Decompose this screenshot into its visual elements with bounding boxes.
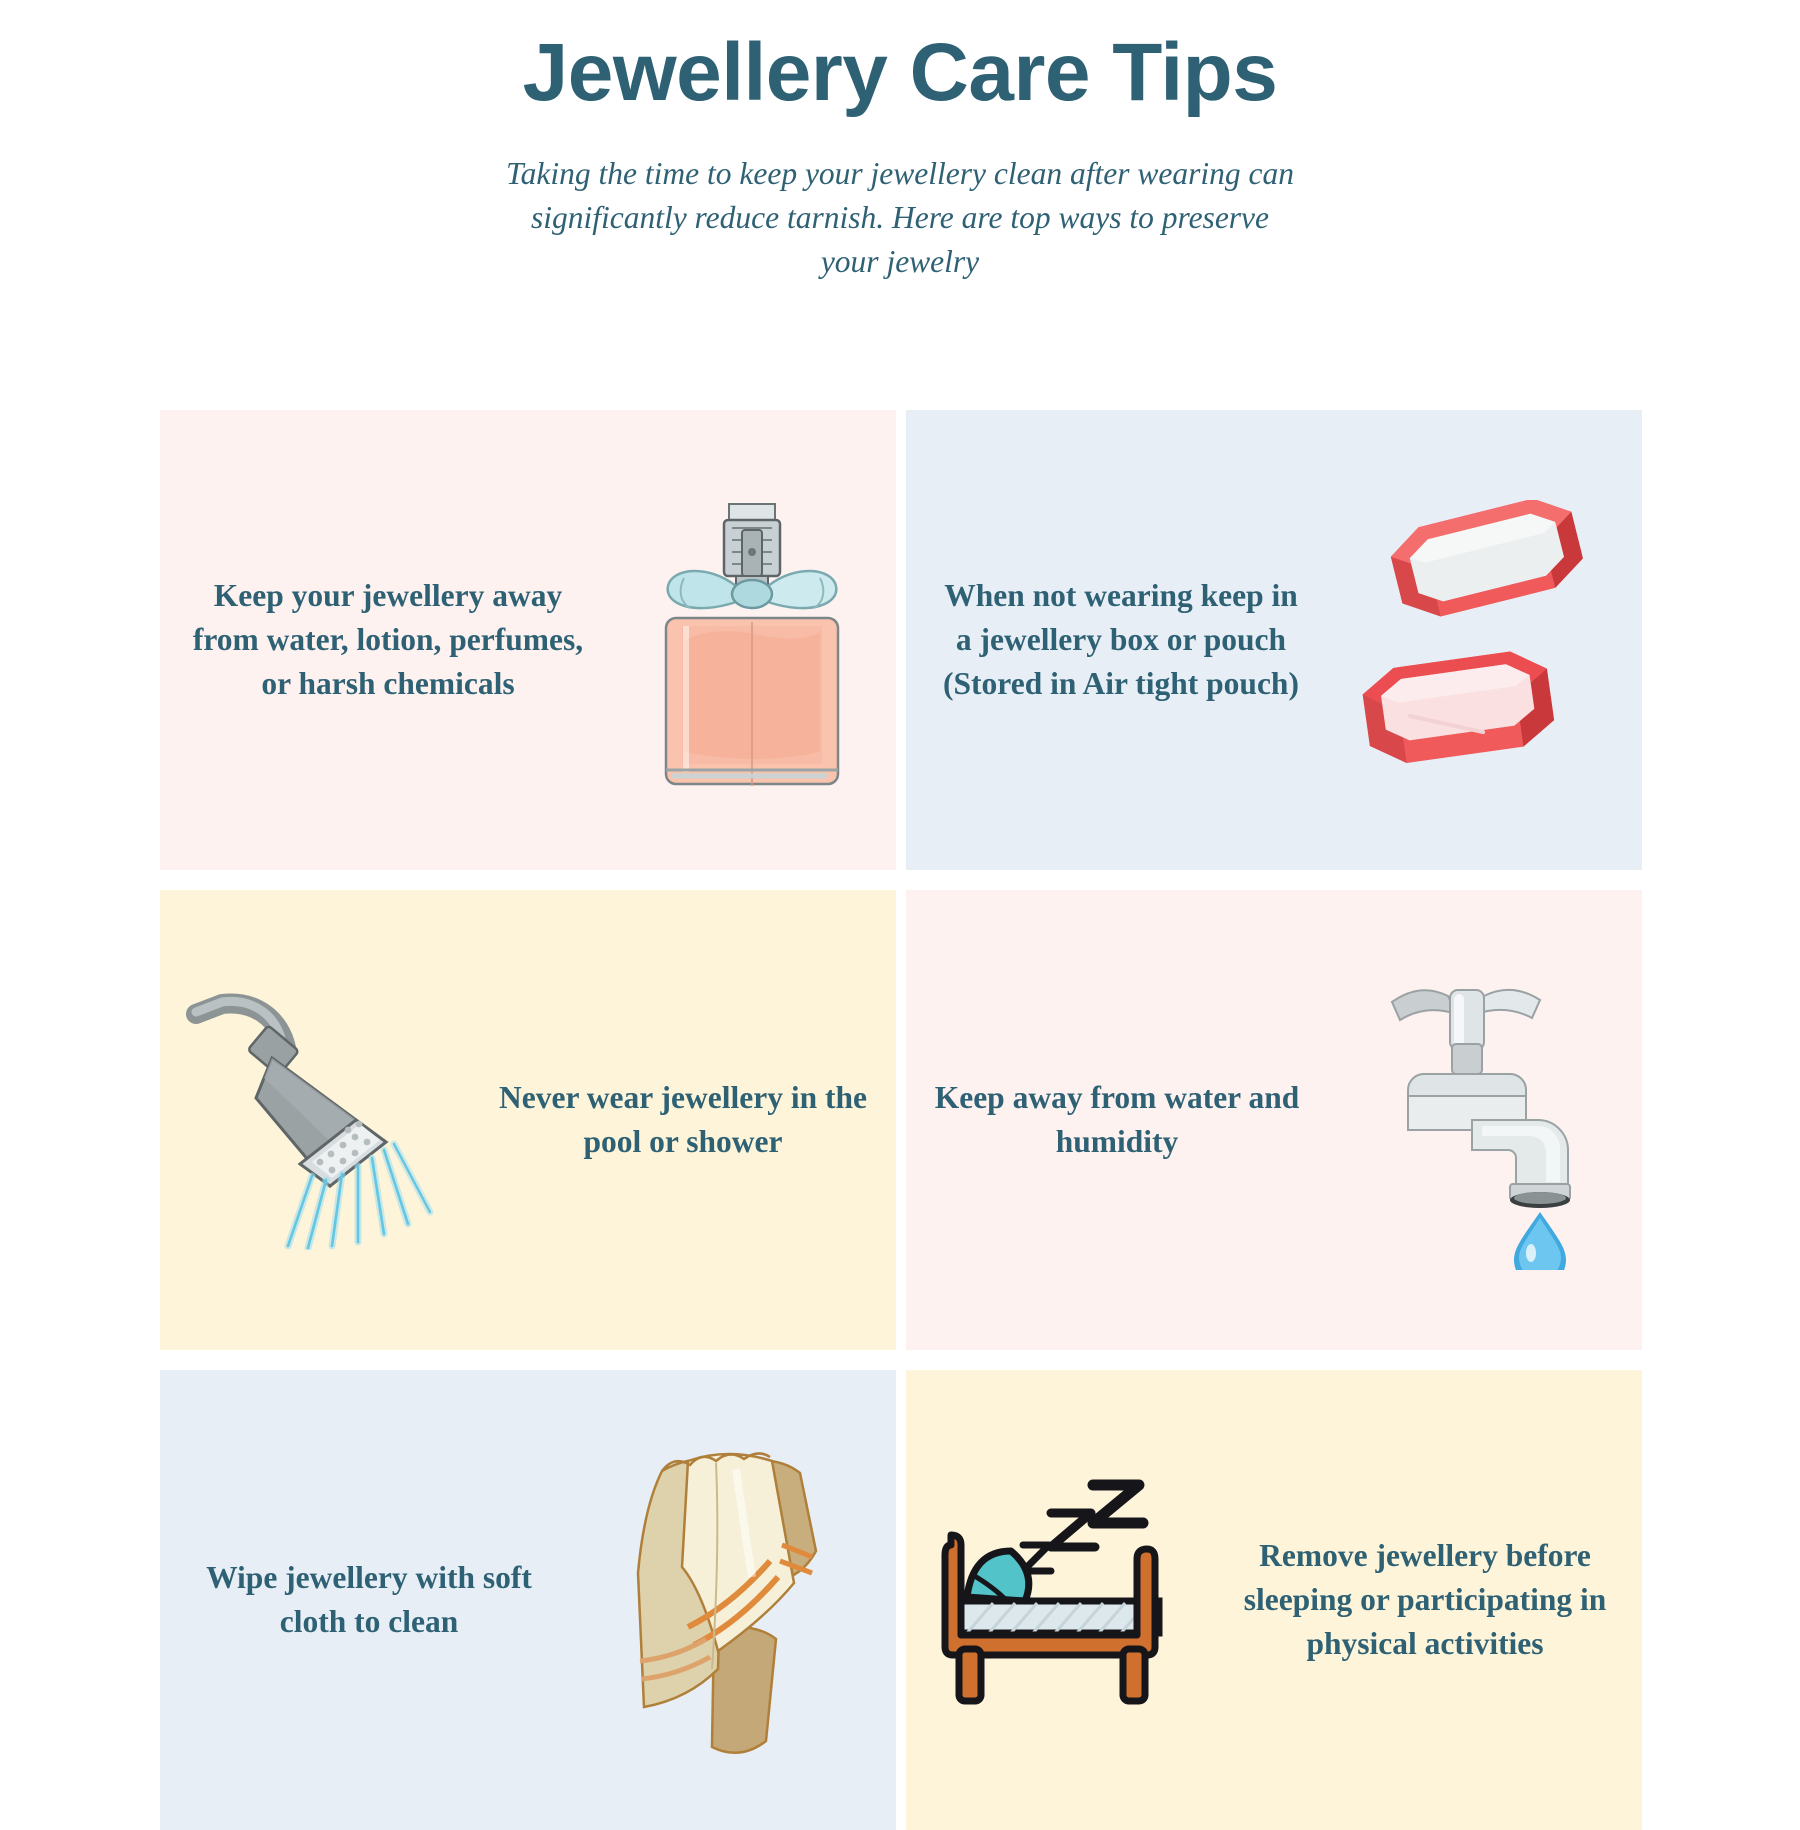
cloth-icon bbox=[566, 1435, 896, 1765]
bed-sleeping-icon bbox=[906, 1475, 1206, 1725]
tip-card-chemicals: Keep your jewellery away from water, lot… bbox=[160, 410, 896, 870]
tips-grid: Keep your jewellery away from water, lot… bbox=[160, 410, 1642, 1830]
tip-text: Keep your jewellery away from water, lot… bbox=[160, 574, 590, 706]
tip-card-sleep: Remove jewellery before sleeping or part… bbox=[906, 1370, 1642, 1830]
tip-card-storage: When not wearing keep in a jewellery box… bbox=[906, 410, 1642, 870]
tip-card-shower: Never wear jewellery in the pool or show… bbox=[160, 890, 896, 1350]
tip-card-humidity: Keep away from water and humidity bbox=[906, 890, 1642, 1350]
shower-head-icon bbox=[160, 990, 460, 1250]
header: Jewellery Care Tips Taking the time to k… bbox=[0, 0, 1800, 284]
page-subtitle: Taking the time to keep your jewellery c… bbox=[500, 116, 1300, 284]
perfume-bottle-icon bbox=[606, 490, 896, 790]
jewellery-box-icon bbox=[1312, 500, 1642, 780]
tip-text: Wipe jewellery with soft cloth to clean bbox=[160, 1556, 560, 1644]
infographic-page: Jewellery Care Tips Taking the time to k… bbox=[0, 0, 1800, 1800]
tip-text: Never wear jewellery in the pool or show… bbox=[476, 1076, 896, 1164]
tip-text: When not wearing keep in a jewellery box… bbox=[906, 574, 1306, 706]
tip-text: Remove jewellery before sleeping or part… bbox=[1222, 1534, 1642, 1666]
tip-card-wipe: Wipe jewellery with soft cloth to clean bbox=[160, 1370, 896, 1830]
page-title: Jewellery Care Tips bbox=[0, 0, 1800, 116]
tip-text: Keep away from water and humidity bbox=[906, 1076, 1306, 1164]
faucet-icon bbox=[1312, 970, 1642, 1270]
